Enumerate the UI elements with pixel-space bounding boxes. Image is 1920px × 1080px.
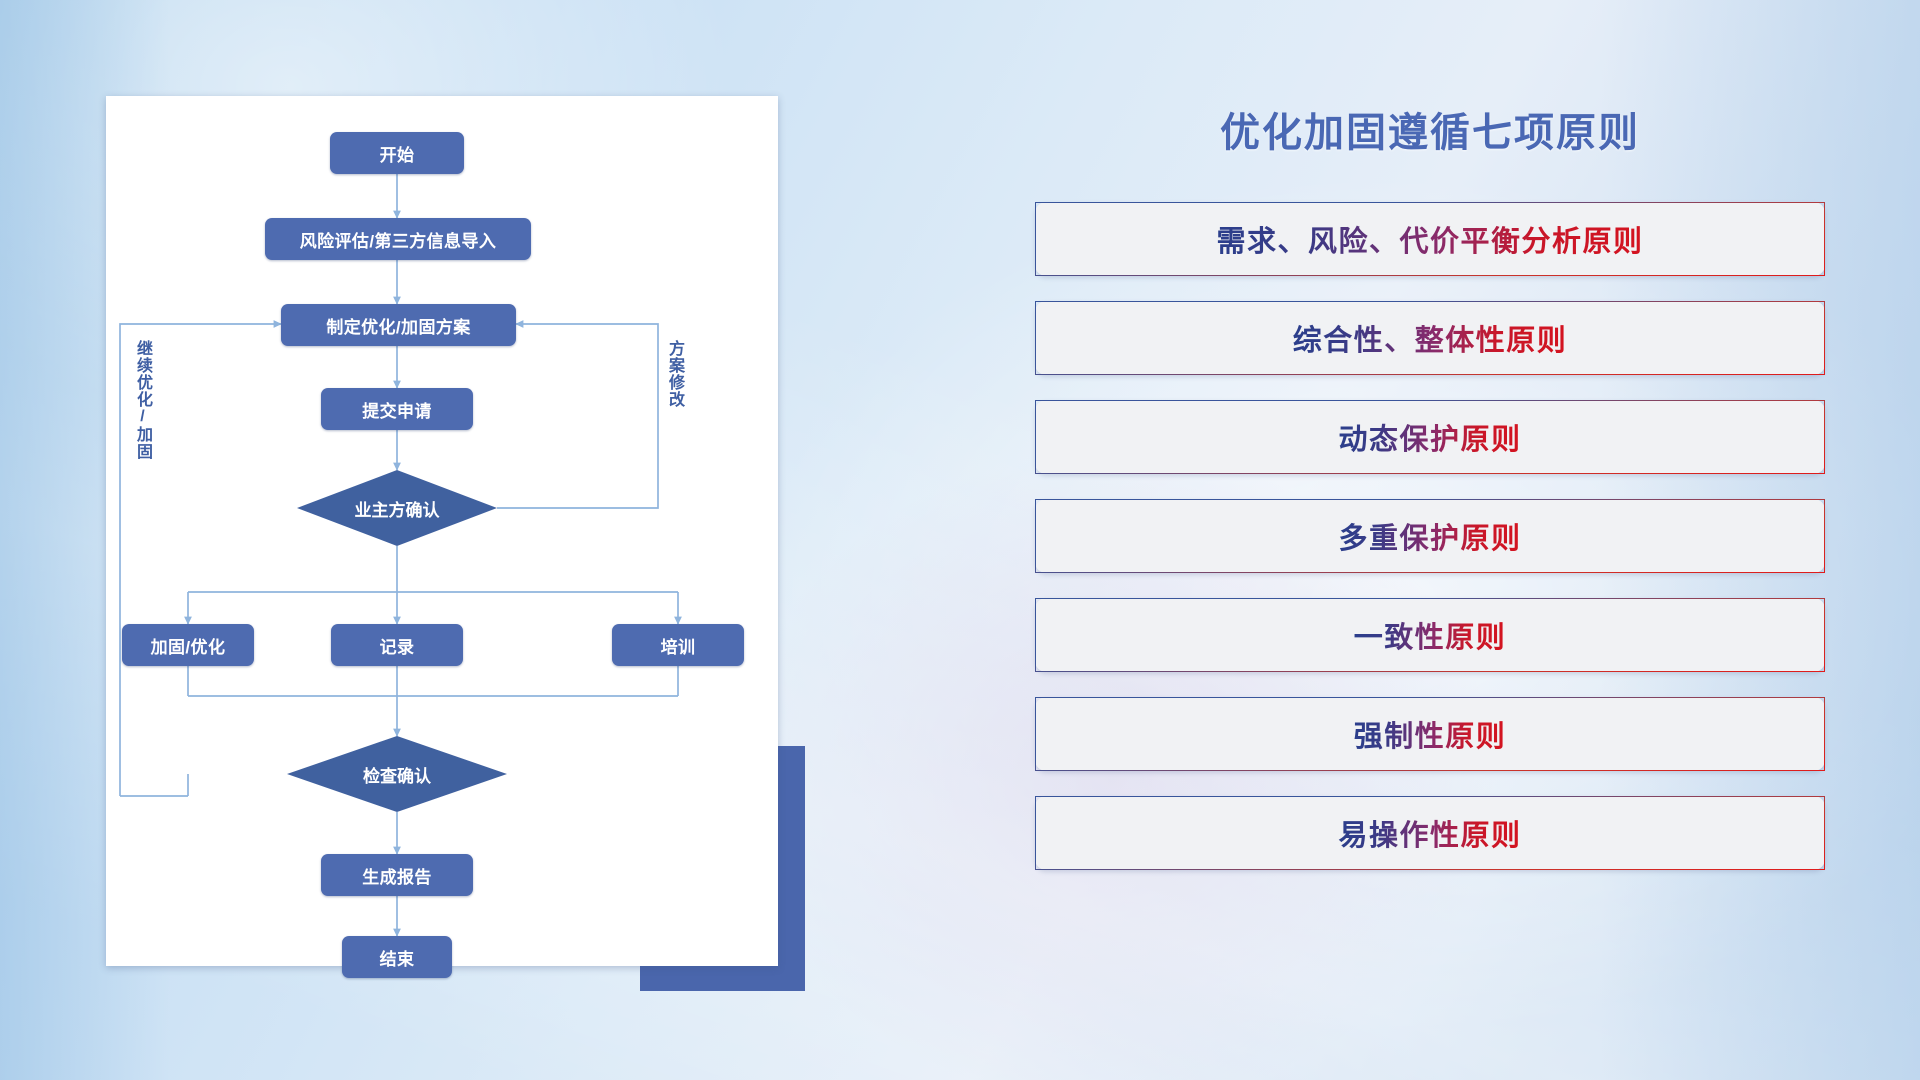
flow-node-submit-application[interactable]: 提交申请 — [321, 388, 473, 430]
principle-item-3[interactable]: 动态保护原则 — [1035, 400, 1825, 474]
flowchart-card: 开始 风险评估/第三方信息导入 制定优化/加固方案 提交申请 业主方确认 加固/… — [106, 96, 778, 966]
flow-edge-label-text: 方案修改 — [666, 340, 683, 408]
principle-item-1[interactable]: 需求、风险、代价平衡分析原则 — [1035, 202, 1825, 276]
flow-node-make-plan[interactable]: 制定优化/加固方案 — [281, 304, 516, 346]
principle-label: 一致性原则 — [1354, 614, 1507, 656]
flow-edge-label-text: 继续优化/加固 — [134, 340, 151, 460]
principle-item-5[interactable]: 一致性原则 — [1035, 598, 1825, 672]
flow-node-record[interactable]: 记录 — [331, 624, 463, 666]
flow-node-end[interactable]: 结束 — [342, 936, 452, 978]
principle-item-4[interactable]: 多重保护原则 — [1035, 499, 1825, 573]
flow-node-label: 加固/优化 — [151, 633, 226, 658]
flow-node-label: 制定优化/加固方案 — [326, 313, 470, 338]
principle-label: 动态保护原则 — [1338, 416, 1521, 458]
flow-node-label: 生成报告 — [362, 863, 432, 888]
principles-panel: 优化加固遵循七项原则 需求、风险、代价平衡分析原则 综合性、整体性原则 动态保护… — [1020, 100, 1840, 895]
principle-label: 综合性、整体性原则 — [1293, 317, 1568, 359]
flow-node-label: 检查确认 — [363, 762, 431, 787]
flow-node-generate-report[interactable]: 生成报告 — [321, 854, 473, 896]
flow-node-label: 记录 — [380, 633, 415, 658]
flow-node-label: 结束 — [380, 945, 415, 970]
flow-node-training[interactable]: 培训 — [612, 624, 744, 666]
principle-label: 易操作性原则 — [1338, 812, 1521, 854]
flow-node-label: 开始 — [380, 141, 415, 166]
flow-edge-label-continue-optimize: 继续优化/加固 — [134, 340, 150, 460]
flow-node-label: 提交申请 — [362, 397, 432, 422]
flowchart: 开始 风险评估/第三方信息导入 制定优化/加固方案 提交申请 业主方确认 加固/… — [106, 96, 778, 966]
flow-node-label: 培训 — [661, 633, 696, 658]
page-title: 优化加固遵循七项原则 — [1020, 100, 1840, 158]
principle-label: 需求、风险、代价平衡分析原则 — [1216, 218, 1643, 260]
flow-node-start[interactable]: 开始 — [330, 132, 464, 174]
flow-node-label: 风险评估/第三方信息导入 — [300, 227, 497, 252]
principle-item-2[interactable]: 综合性、整体性原则 — [1035, 301, 1825, 375]
flow-edge-label-plan-revision: 方案修改 — [666, 340, 682, 408]
principle-item-6[interactable]: 强制性原则 — [1035, 697, 1825, 771]
principle-item-7[interactable]: 易操作性原则 — [1035, 796, 1825, 870]
principle-label: 多重保护原则 — [1338, 515, 1521, 557]
flow-node-label: 业主方确认 — [355, 496, 440, 521]
flow-node-risk-assessment[interactable]: 风险评估/第三方信息导入 — [265, 218, 531, 260]
principle-label: 强制性原则 — [1354, 713, 1507, 755]
flow-node-reinforce-optimize[interactable]: 加固/优化 — [122, 624, 254, 666]
